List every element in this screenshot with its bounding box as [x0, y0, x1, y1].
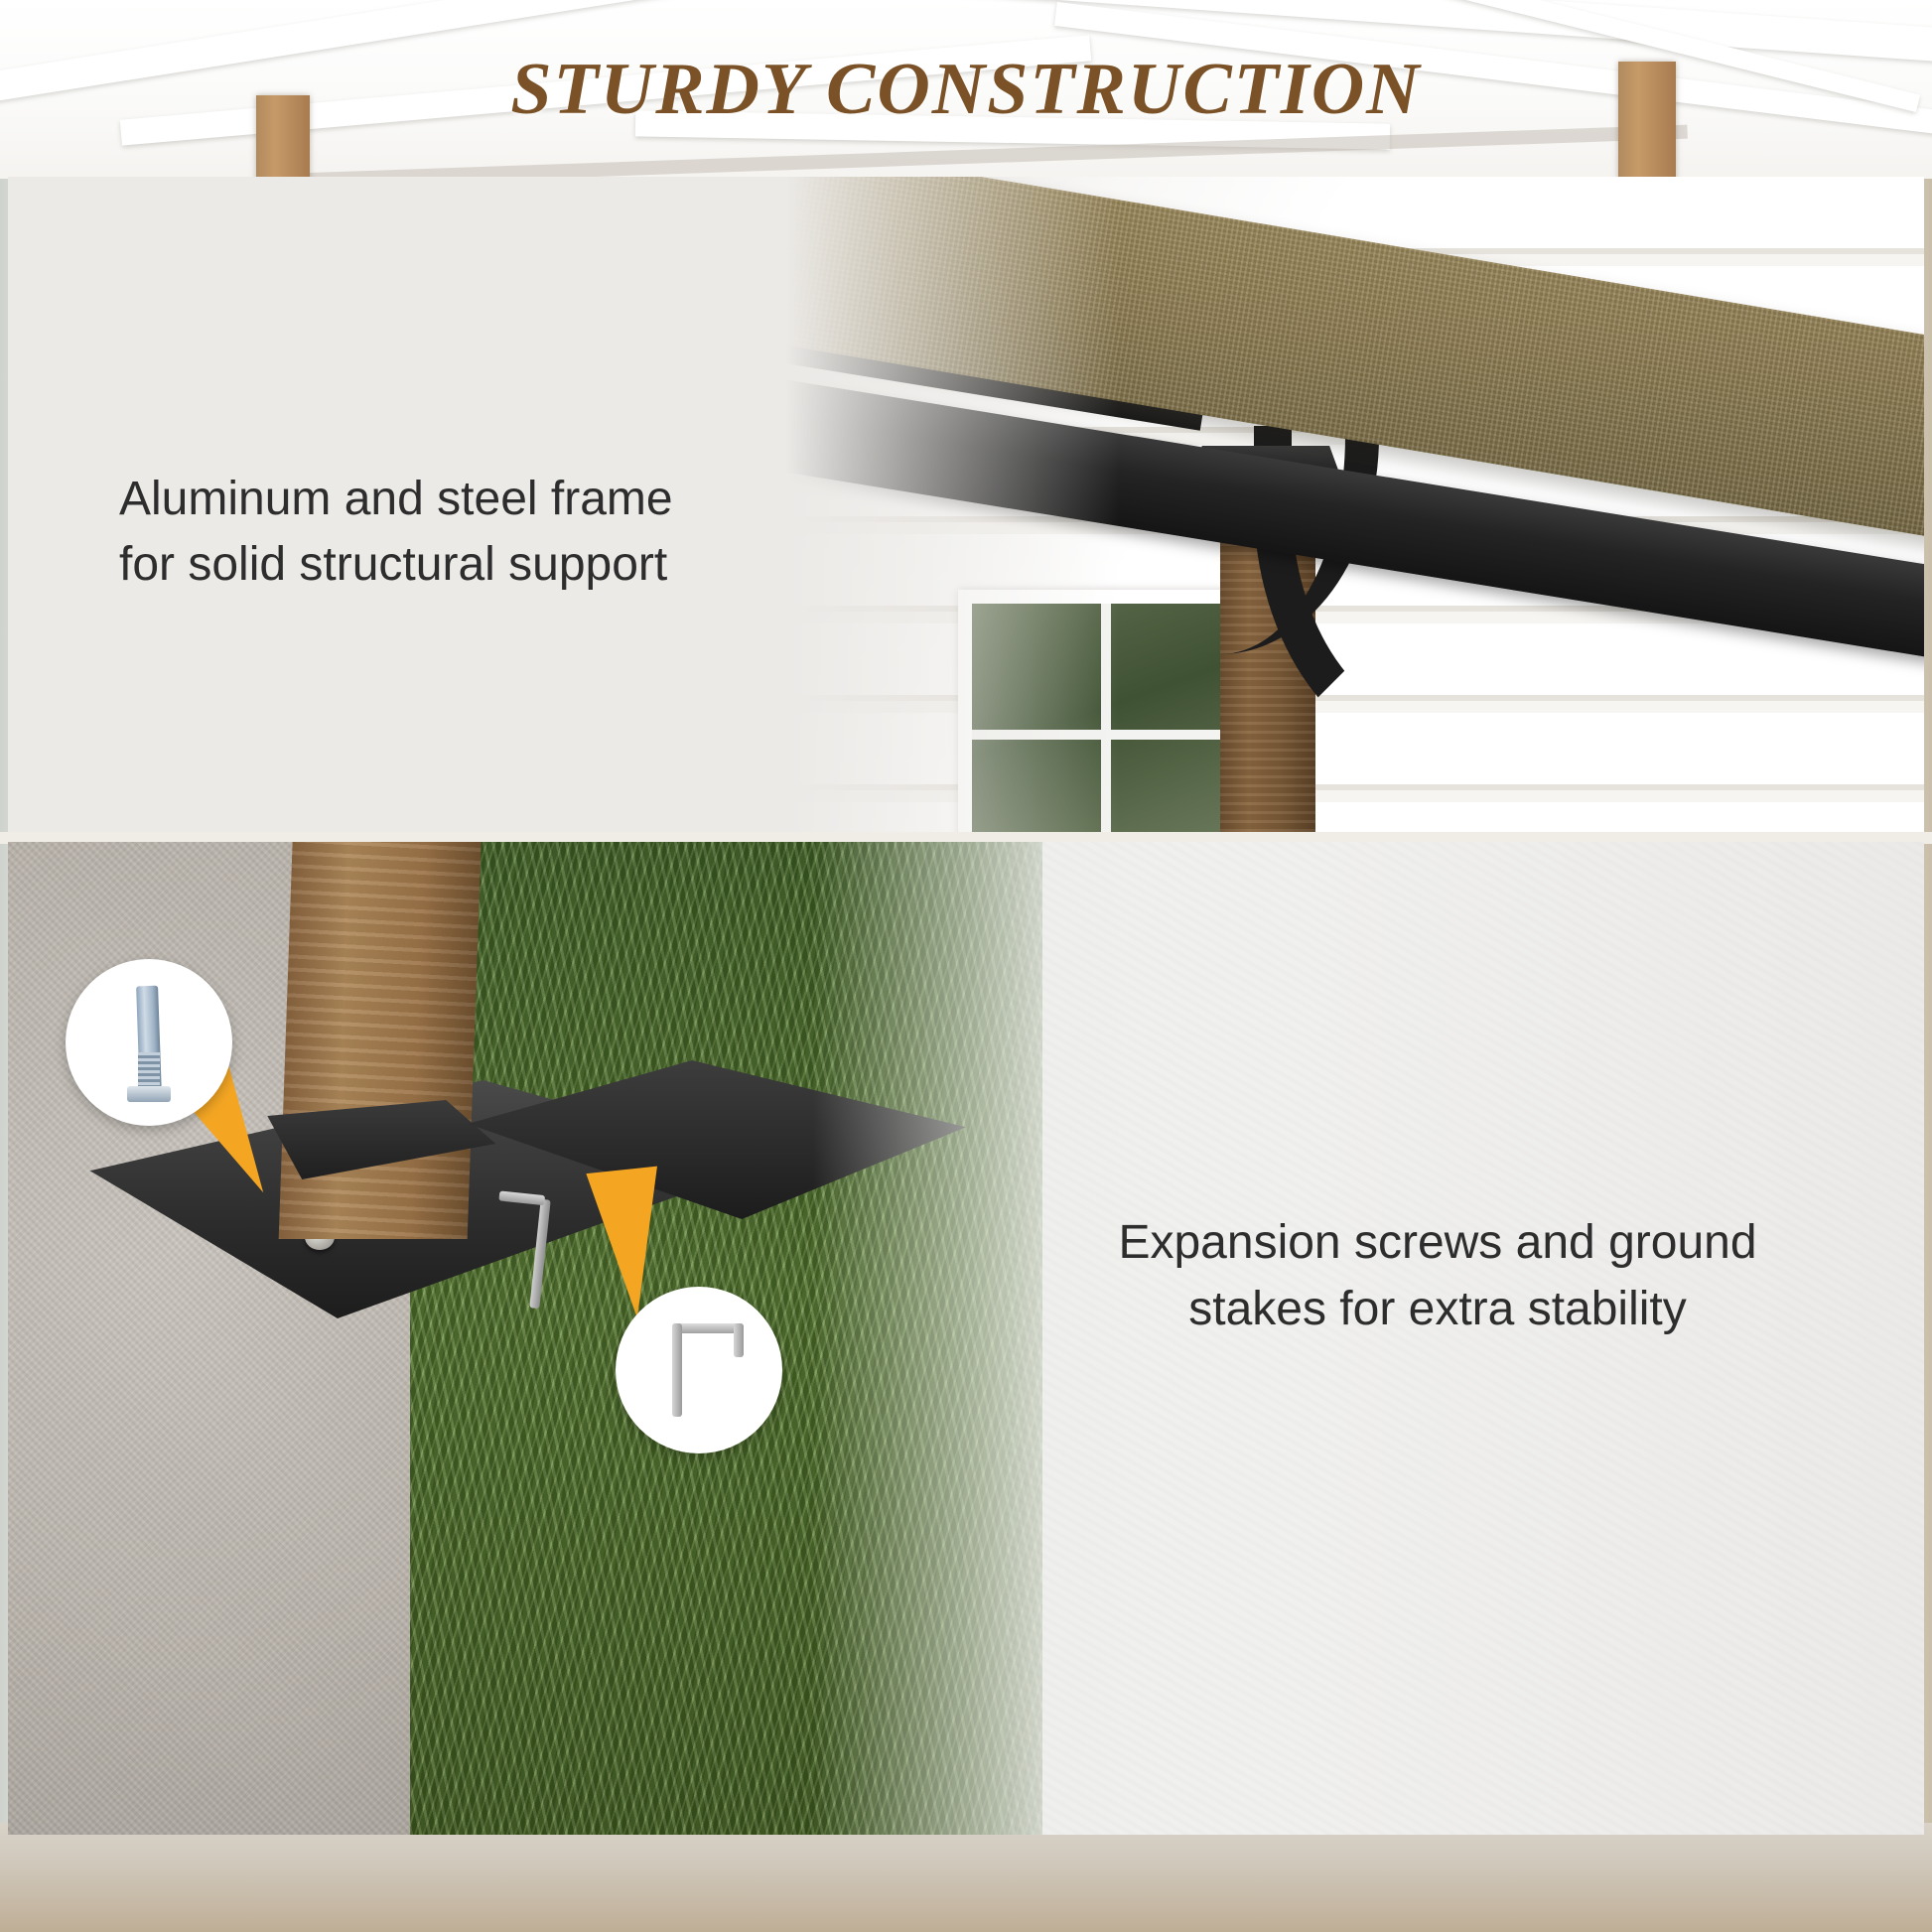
wood-grain-texture: [279, 842, 483, 1239]
stake-shaft-icon: [672, 1323, 682, 1417]
expansion-screw-callout: [66, 959, 232, 1126]
screw-thread-icon: [138, 1052, 160, 1089]
anchors-caption-line-1: Expansion screws and ground: [1021, 1209, 1855, 1276]
poster-title: STURDY CONSTRUCTION: [0, 48, 1932, 132]
frame-panel-caption: Aluminum and steel frame for solid struc…: [119, 467, 814, 598]
stake-tip-icon: [734, 1323, 744, 1357]
frame-caption-line-2: for solid structural support: [119, 532, 814, 598]
anchors-caption-line-2: stakes for extra stability: [1021, 1276, 1855, 1342]
frame-panel: Aluminum and steel frame for solid struc…: [8, 177, 1924, 832]
anchors-panel: Expansion screws and ground stakes for e…: [8, 842, 1924, 1835]
screw-head-icon: [127, 1086, 171, 1102]
anchors-wood-post: [279, 842, 483, 1239]
background-bottom-edge: [0, 1823, 1932, 1932]
anchors-panel-caption: Expansion screws and ground stakes for e…: [1021, 1209, 1855, 1342]
product-feature-poster: STURDY CONSTRUCTION: [0, 0, 1932, 1932]
ground-stake-callout: [616, 1287, 782, 1453]
frame-caption-line-1: Aluminum and steel frame: [119, 467, 814, 532]
